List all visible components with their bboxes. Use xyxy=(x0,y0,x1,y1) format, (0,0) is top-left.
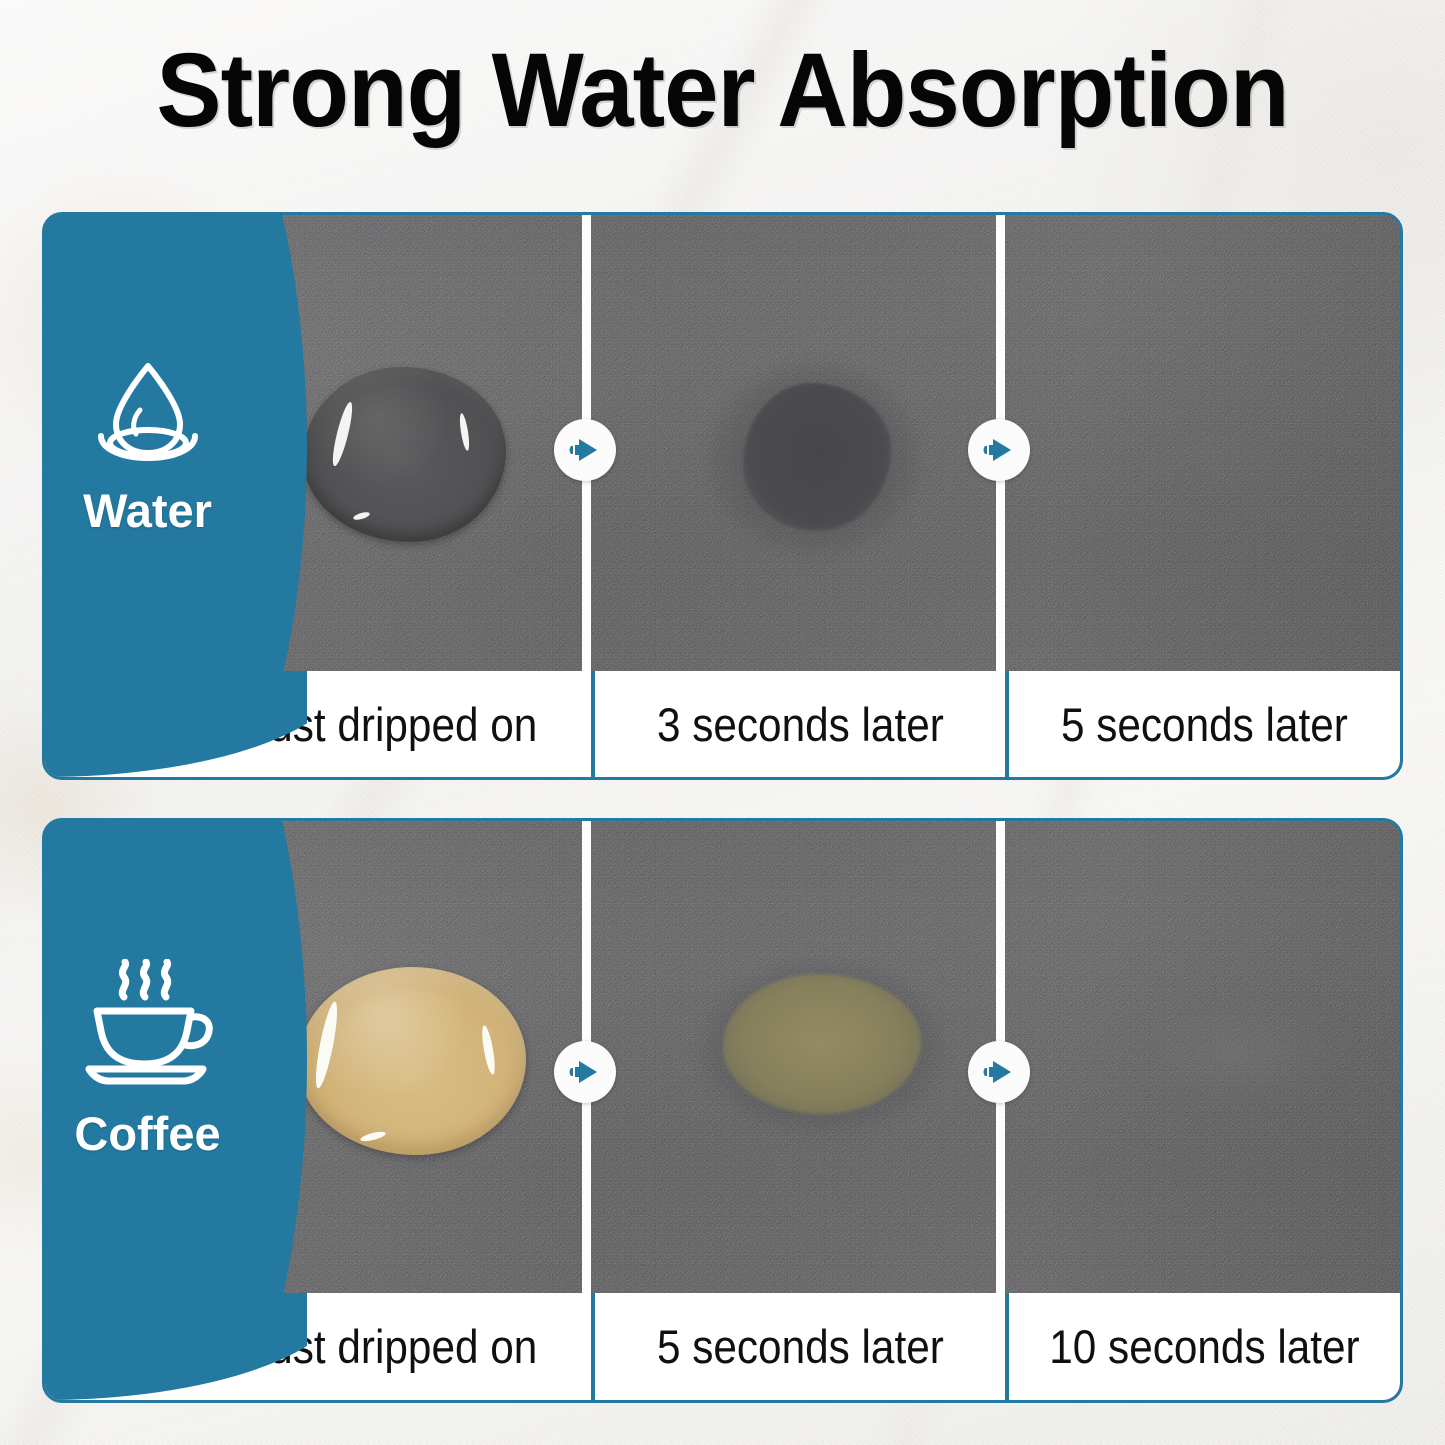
arrow-right-icon xyxy=(968,1041,1030,1103)
coffee-badge-label: Coffee xyxy=(74,1106,220,1161)
coffee-cup-icon xyxy=(79,959,217,1094)
water-photo-strip: Water xyxy=(45,215,1400,677)
caption-label: 5 seconds later xyxy=(657,1319,944,1374)
coffee-demo-panel: Coffee Just dripped on 5 seconds later 1… xyxy=(42,818,1403,1403)
caption-cell: 10 seconds later xyxy=(1005,1293,1400,1400)
coffee-droplet-fresh xyxy=(298,967,526,1155)
droplet-highlight xyxy=(312,1001,342,1090)
caption-label: 3 seconds later xyxy=(657,697,944,752)
caption-cell: 5 seconds later xyxy=(1005,671,1400,777)
arrow-right-icon xyxy=(968,419,1030,481)
droplet-highlight xyxy=(329,401,356,468)
water-badge-label: Water xyxy=(83,483,212,538)
water-dry-surface xyxy=(1145,415,1315,507)
arrow-right-icon xyxy=(554,419,616,481)
droplet-highlight xyxy=(353,511,371,521)
caption-cell: 3 seconds later xyxy=(591,671,1005,777)
water-demo-panel: Water Just dripped on 3 seconds later 5 … xyxy=(42,212,1403,780)
droplet-highlight xyxy=(458,413,471,452)
page-title: Strong Water Absorption xyxy=(51,38,1395,143)
water-droplet-fresh xyxy=(303,367,506,542)
droplet-highlight xyxy=(480,1025,498,1076)
arrow-right-icon xyxy=(554,1041,616,1103)
coffee-photo-strip: Coffee xyxy=(45,821,1400,1299)
water-badge: Water xyxy=(45,215,307,677)
coffee-badge: Coffee xyxy=(45,821,307,1299)
water-drop-icon xyxy=(88,354,208,471)
coffee-dry-surface xyxy=(1123,989,1355,1117)
caption-label: 10 seconds later xyxy=(1049,1319,1359,1374)
coffee-absorbing-stain xyxy=(723,974,921,1114)
droplet-highlight xyxy=(360,1130,387,1143)
caption-cell: 5 seconds later xyxy=(591,1293,1005,1400)
caption-label: 5 seconds later xyxy=(1061,697,1348,752)
